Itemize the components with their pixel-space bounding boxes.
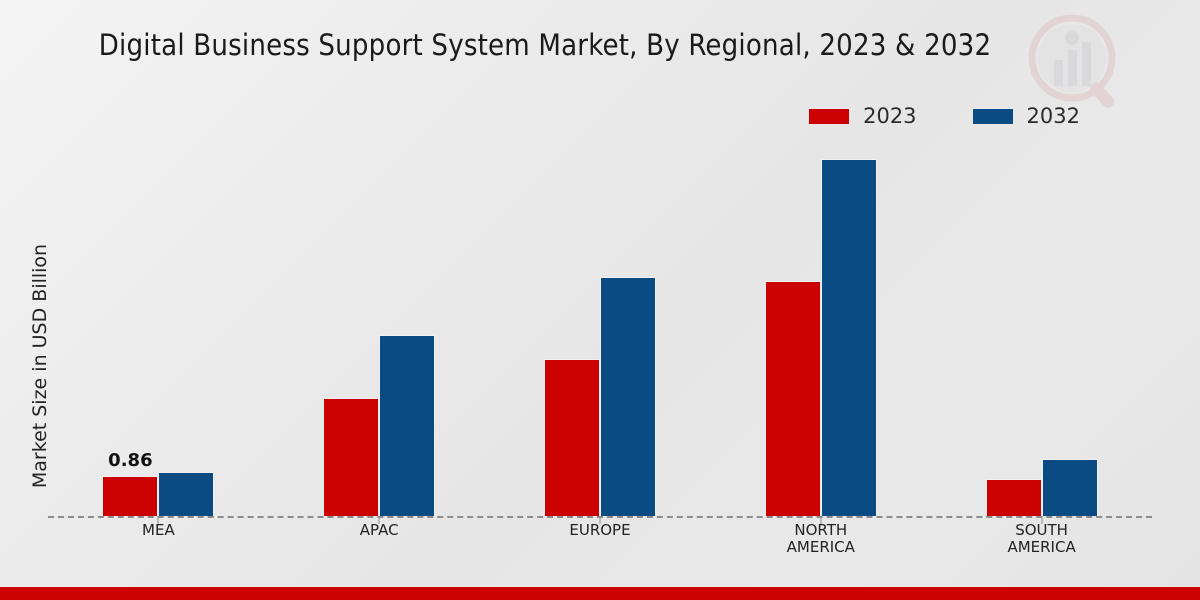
x-label-apac-line1: APAC [269, 522, 490, 539]
bar-group-north-america [710, 140, 931, 516]
x-label-europe: EUROPE [490, 522, 711, 556]
x-label-mea-line1: MEA [48, 522, 269, 539]
legend-swatch-2023 [809, 109, 849, 124]
x-axis-category-labels: MEA APAC EUROPE NORTH AMERICA SOUTH AMER… [48, 522, 1152, 556]
x-label-south-america-line1: SOUTH [931, 522, 1152, 539]
bar-south-america-2023[interactable] [986, 479, 1042, 516]
x-label-north-america: NORTH AMERICA [710, 522, 931, 556]
legend-label-2032: 2032 [1027, 104, 1080, 128]
bar-group-apac [269, 140, 490, 516]
legend-item-2032[interactable]: 2032 [973, 104, 1080, 128]
bar-south-america-2032[interactable] [1042, 459, 1098, 516]
bars-south-america [931, 140, 1152, 516]
x-label-mea: MEA [48, 522, 269, 556]
bar-mea-2032[interactable] [158, 472, 214, 516]
x-label-north-america-line1: NORTH [710, 522, 931, 539]
x-label-europe-line1: EUROPE [490, 522, 711, 539]
x-label-south-america-line2: AMERICA [931, 539, 1152, 556]
bar-group-south-america [931, 140, 1152, 516]
bar-north-america-2032[interactable] [821, 159, 877, 516]
x-label-south-america: SOUTH AMERICA [931, 522, 1152, 556]
bar-apac-2023[interactable] [323, 398, 379, 516]
bar-europe-2032[interactable] [600, 277, 656, 516]
bar-label-mea-2023: 0.86 [108, 450, 152, 471]
bar-europe-2023[interactable] [544, 359, 600, 516]
bar-north-america-2023[interactable] [765, 281, 821, 516]
legend-label-2023: 2023 [863, 104, 916, 128]
bottom-banner [0, 587, 1200, 600]
bar-mea-2023[interactable]: 0.86 [102, 476, 158, 516]
bar-apac-2032[interactable] [379, 335, 435, 516]
bars-mea: 0.86 [48, 140, 269, 516]
legend-item-2023[interactable]: 2023 [809, 104, 916, 128]
x-axis-baseline [48, 516, 1152, 518]
bar-groups: 0.86 [48, 140, 1152, 516]
x-label-apac: APAC [269, 522, 490, 556]
bars-europe [490, 140, 711, 516]
bar-group-europe [490, 140, 711, 516]
chart-canvas: Digital Business Support System Market, … [0, 0, 1200, 600]
x-label-north-america-line2: AMERICA [710, 539, 931, 556]
plot-area: 0.86 [48, 140, 1152, 518]
chart-legend: 2023 2032 [700, 104, 1080, 128]
bar-group-mea: 0.86 [48, 140, 269, 516]
chart-title: Digital Business Support System Market, … [0, 28, 1090, 62]
legend-swatch-2032 [973, 109, 1013, 124]
bars-north-america [710, 140, 931, 516]
bars-apac [269, 140, 490, 516]
